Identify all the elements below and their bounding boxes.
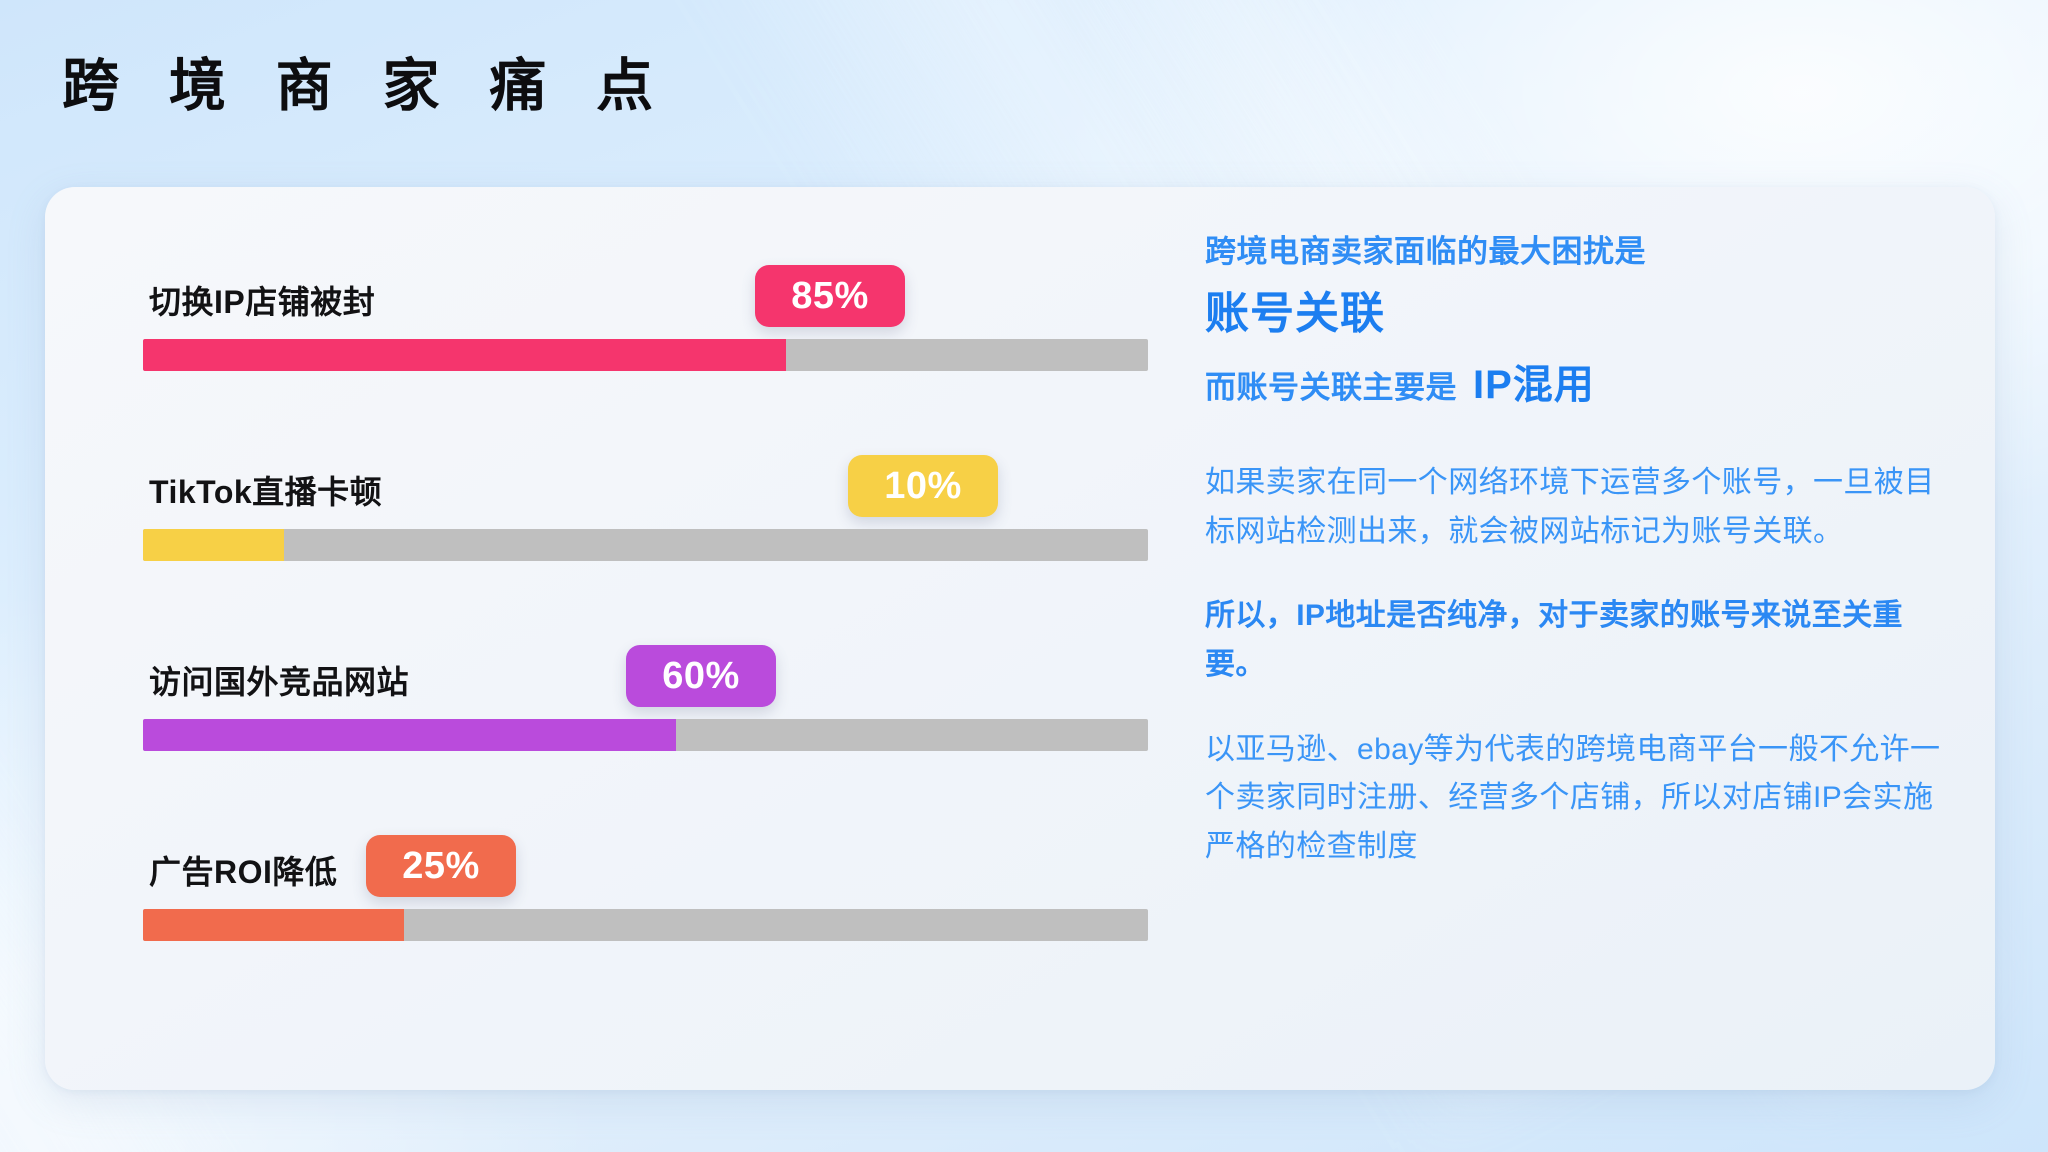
bar-row-header: TikTok直播卡顿 10%: [83, 419, 1153, 519]
bar-track: [143, 529, 1148, 561]
bar-label: 访问国外竞品网站: [149, 657, 409, 703]
slide-canvas: 跨 境 商 家 痛 点 切换IP店铺被封 85% TikTok直播卡顿 10%: [0, 0, 2048, 1152]
bar-value-badge: 10%: [848, 455, 998, 517]
copy-paragraph-2: 所以，IP地址是否纯净，对于卖家的账号来说至关重要。: [1205, 592, 1945, 689]
bar-row: 切换IP店铺被封 85%: [83, 229, 1153, 389]
bar-track: [143, 719, 1148, 751]
copy-subline-prefix: 而账号关联主要是: [1205, 365, 1457, 412]
bar-fill: [143, 339, 786, 371]
pain-point-bar-chart: 切换IP店铺被封 85% TikTok直播卡顿 10% 访问国外竞品网站: [83, 229, 1153, 1049]
bar-fill: [143, 719, 676, 751]
page-title: 跨 境 商 家 痛 点: [62, 54, 670, 120]
bar-value-badge: 60%: [626, 645, 776, 707]
bar-row-header: 切换IP店铺被封 85%: [83, 229, 1153, 329]
bar-label: 切换IP店铺被封: [149, 277, 375, 323]
bar-row-header: 广告ROI降低 25%: [83, 799, 1153, 899]
bar-label: TikTok直播卡顿: [149, 467, 382, 513]
bar-row: TikTok直播卡顿 10%: [83, 419, 1153, 579]
content-card: 切换IP店铺被封 85% TikTok直播卡顿 10% 访问国外竞品网站: [45, 187, 1995, 1090]
bar-value-badge: 25%: [366, 835, 516, 897]
bar-row-header: 访问国外竞品网站 60%: [83, 609, 1153, 709]
bar-row: 访问国外竞品网站 60%: [83, 609, 1153, 769]
bar-fill: [143, 529, 284, 561]
bar-fill: [143, 909, 404, 941]
spacer: [1205, 415, 1945, 459]
spacer: [1205, 556, 1945, 592]
copy-subline: 而账号关联主要是 IP混用: [1205, 355, 1945, 415]
bar-track: [143, 909, 1148, 941]
copy-paragraph-3: 以亚马逊、ebay等为代表的跨境电商平台一般不允许一个卖家同时注册、经营多个店铺…: [1205, 726, 1945, 872]
bar-track: [143, 339, 1148, 371]
bar-label: 广告ROI降低: [149, 847, 337, 893]
copy-paragraph-1: 如果卖家在同一个网络环境下运营多个账号，一旦被目标网站检测出来，就会被网站标记为…: [1205, 459, 1945, 556]
bar-row: 广告ROI降低 25%: [83, 799, 1153, 959]
spacer: [1205, 690, 1945, 726]
explanation-pane: 跨境电商卖家面临的最大困扰是 账号关联 而账号关联主要是 IP混用 如果卖家在同…: [1205, 229, 1945, 871]
copy-headline: 账号关联: [1205, 282, 1945, 346]
bar-value-badge: 85%: [755, 265, 905, 327]
copy-kicker: 跨境电商卖家面临的最大困扰是: [1205, 229, 1945, 276]
copy-subline-emphasis: IP混用: [1473, 355, 1595, 415]
